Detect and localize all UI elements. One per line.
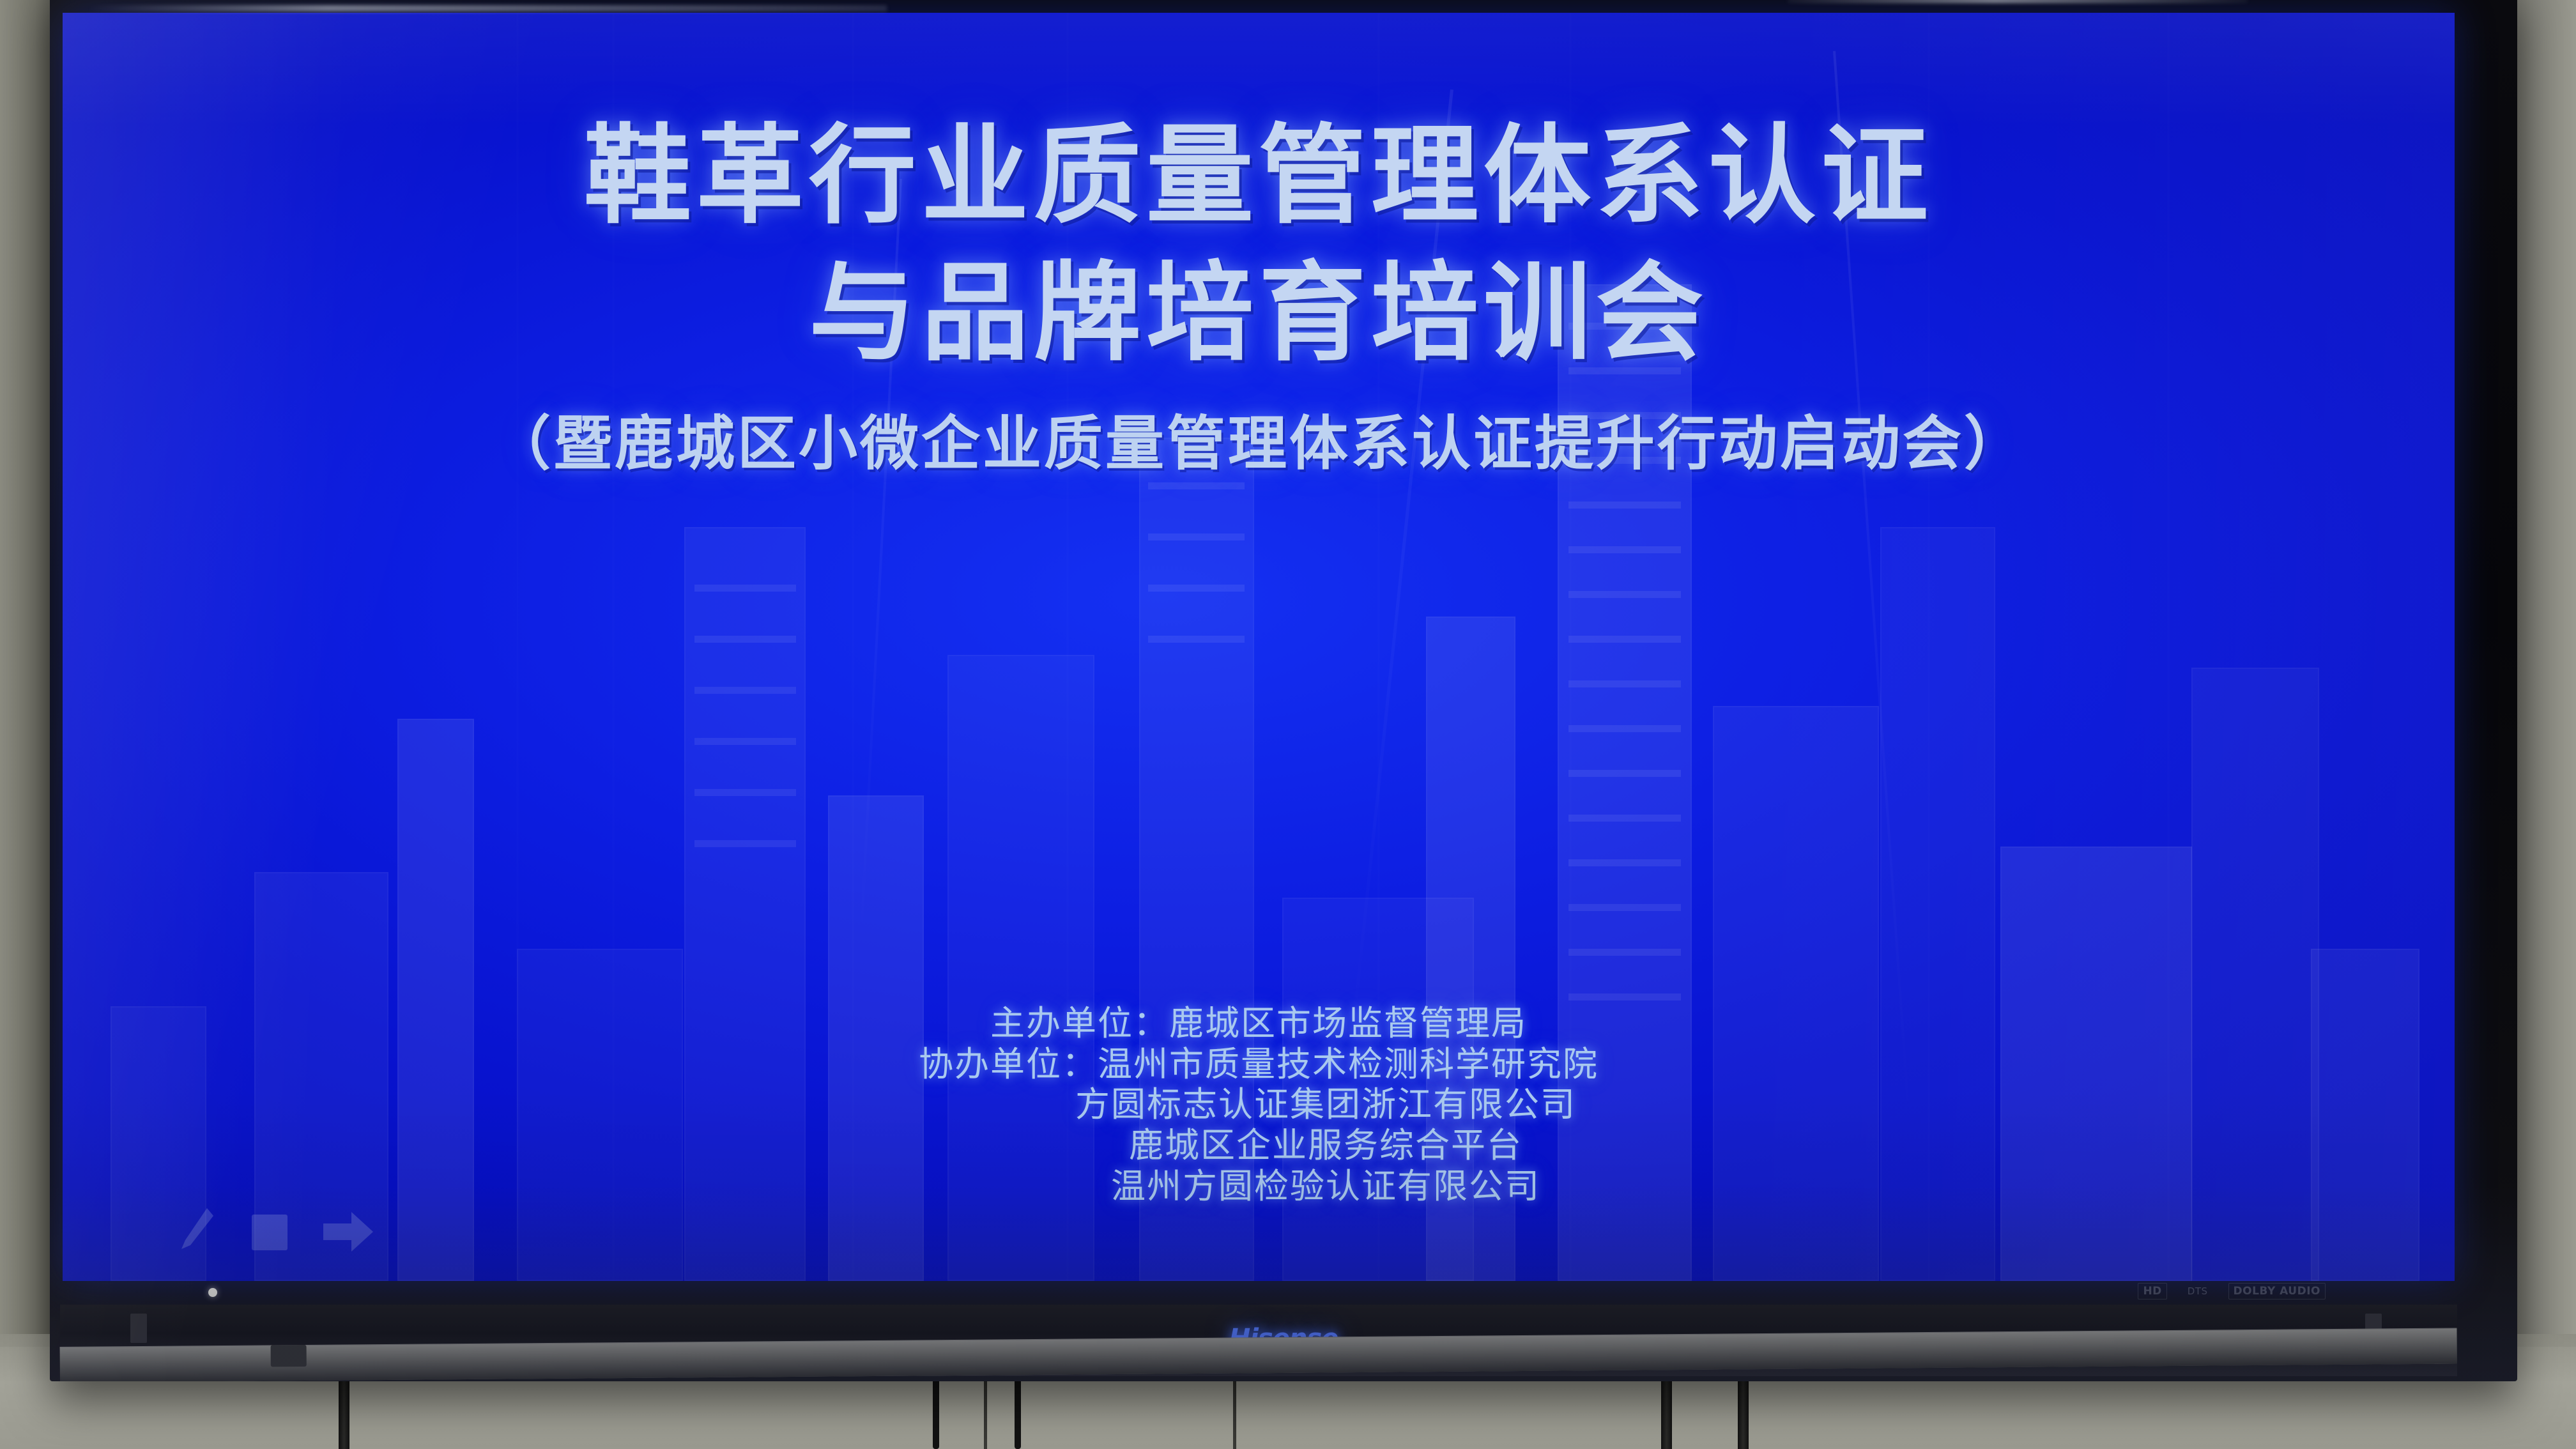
organizer-line: 方圆标志认证集团浙江有限公司	[941, 1084, 1576, 1125]
certification-badge: DOLBY AUDIO	[2228, 1283, 2326, 1299]
certification-logos: HD DTS DOLBY AUDIO	[2138, 1283, 2326, 1299]
title-line-2: 与品牌培育培训会	[63, 245, 2455, 382]
tv-screen[interactable]: 鞋革行业质量管理体系认证 与品牌培育培训会 （暨鹿城区小微企业质量管理体系认证提…	[63, 13, 2455, 1281]
slide-title: 鞋革行业质量管理体系认证 与品牌培育培训会	[63, 107, 2455, 382]
organizer-line: 协办单位：温州市质量技术检测科学研究院	[919, 1044, 1598, 1085]
television: 鞋革行业质量管理体系认证 与品牌培育培训会 （暨鹿城区小微企业质量管理体系认证提…	[50, 0, 2517, 1381]
eraser-icon[interactable]	[249, 1212, 290, 1253]
remote-sensor-window	[271, 1345, 307, 1367]
signal-cable	[1015, 1372, 1021, 1449]
organizer-line: 主办单位：鹿城区市场监督管理局	[990, 1003, 1527, 1044]
title-line-1: 鞋革行业质量管理体系认证	[63, 107, 2455, 245]
arrow-right-icon[interactable]	[323, 1211, 373, 1253]
slide-subtitle: （暨鹿城区小微企业质量管理体系认证提升行动启动会）	[63, 396, 2455, 481]
organizer-line: 鹿城区企业服务综合平台	[995, 1125, 1522, 1166]
certification-badge: DTS	[2188, 1285, 2208, 1297]
organizer-list: 主办单位：鹿城区市场监督管理局 协办单位：温州市质量技术检测科学研究院 方圆标志…	[63, 1003, 2455, 1207]
pen-icon[interactable]	[178, 1206, 216, 1253]
bezel-highlight	[1788, 0, 2248, 3]
ir-receiver-led	[208, 1288, 217, 1297]
organizer-line: 温州方圆检验认证有限公司	[977, 1166, 1540, 1207]
bezel-highlight	[88, 5, 887, 11]
presentation-slide: 鞋革行业质量管理体系认证 与品牌培育培训会 （暨鹿城区小微企业质量管理体系认证提…	[63, 13, 2455, 1281]
certification-badge: HD	[2138, 1283, 2166, 1299]
annotation-toolbar[interactable]	[178, 1206, 373, 1253]
